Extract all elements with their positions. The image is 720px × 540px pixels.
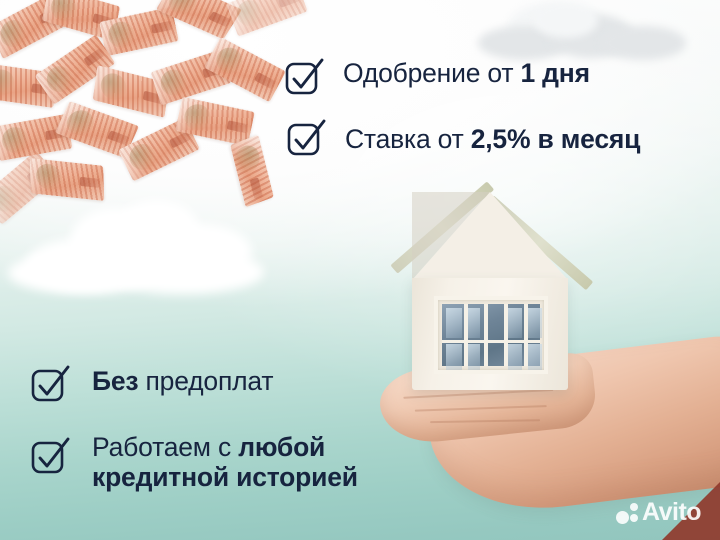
bullet-prefix-any-credit-history: Работаем с: [92, 432, 238, 462]
model-house: [388, 178, 588, 394]
checkbox-check-icon: [287, 120, 325, 158]
bullet-text-rate: Ставка от 2,5% в месяц: [345, 124, 640, 155]
avito-wordmark: Avito: [642, 500, 701, 525]
house-window-frame: [434, 296, 548, 374]
bullet-suffix-no-prepayment: предоплат: [138, 366, 273, 396]
checkbox-check-icon: [31, 438, 69, 476]
bullet-prefix-rate: Ставка от: [345, 124, 471, 154]
house-body: [412, 278, 568, 390]
bullet-emphasis-approval: 1 дня: [520, 58, 589, 88]
house-window-glass: [442, 304, 540, 366]
avito-dots-icon: [616, 502, 638, 524]
bullet-text-no-prepayment: Без предоплат: [92, 366, 273, 397]
avito-watermark: Avito: [616, 500, 701, 525]
bullet-prefix-approval: Одобрение от: [343, 58, 520, 88]
house-gable-shade: [412, 192, 568, 280]
bullet-emphasis-no-prepayment: Без: [92, 366, 138, 396]
falling-banknotes-group: [0, 0, 312, 286]
promo-banner: Одобрение от 1 дня Ставка от 2,5% в меся…: [0, 0, 720, 540]
checkbox-check-icon: [31, 366, 69, 404]
checkbox-check-icon: [285, 59, 323, 97]
bullet-text-approval: Одобрение от 1 дня: [343, 58, 590, 89]
bullet-emphasis-rate: 2,5% в месяц: [471, 124, 641, 154]
bullet-text-any-credit-history: Работаем с любой кредитной историей: [92, 432, 422, 492]
